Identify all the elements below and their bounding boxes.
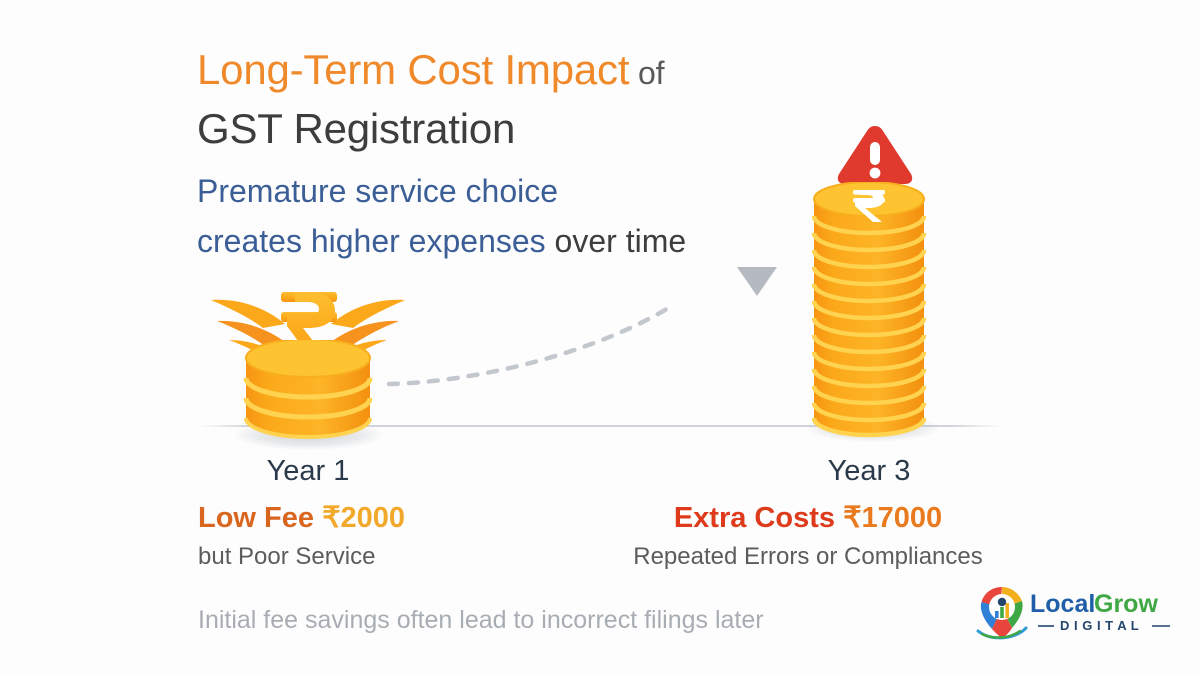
logo-name-grow: Grow — [1094, 590, 1158, 618]
year3-label: Year 3 — [752, 455, 986, 488]
year3-cost-title: Extra Costs — [674, 502, 835, 534]
year3-cost-headline: Extra Costs ₹17000 — [560, 498, 1056, 538]
year3-cost-caption: Repeated Errors or Compliances — [560, 538, 1056, 576]
footer-note: Initial fee savings often lead to incorr… — [198, 606, 764, 635]
logo-name-local: Local — [1030, 590, 1095, 618]
growth-trend-arrow — [385, 262, 785, 397]
page-title: Long-Term Cost Impact of GST Registratio… — [197, 42, 917, 156]
headline-line-1: Long-Term Cost Impact of — [197, 42, 917, 101]
localgrow-digital-logo[interactable]: Local Grow D I G I T A L — [976, 584, 1176, 642]
year1-coins-icon — [238, 340, 378, 450]
year3-cost-block: Extra Costs ₹17000 Repeated Errors or Co… — [560, 498, 1056, 576]
growth-arrow-dashed-path — [389, 304, 675, 384]
infographic-canvas: Long-Term Cost Impact of GST Registratio… — [0, 0, 1200, 675]
year3-coins-icon — [807, 182, 931, 442]
headline-accent-text: Long-Term Cost Impact — [197, 46, 629, 93]
growth-arrow-head-icon — [737, 267, 777, 296]
logo-wordmark: Local Grow D I G I T A L — [1030, 588, 1176, 636]
year1-coin-stack — [248, 348, 368, 438]
subtitle-trailing-text: over time — [546, 223, 686, 259]
headline-line-2: GST Registration — [197, 101, 917, 156]
year3-cost-amount: ₹17000 — [843, 502, 942, 534]
year1-cost-amount: ₹2000 — [322, 502, 405, 534]
logo-tagline: D I G I T A L — [1060, 618, 1139, 633]
year1-label: Year 1 — [188, 455, 428, 488]
headline-connector-text: of — [629, 55, 664, 91]
subtitle-emphasis-text: creates higher expenses — [197, 223, 546, 259]
year1-cost-title: Low Fee — [198, 502, 314, 534]
location-pin-chart-icon — [976, 584, 1028, 640]
year3-coin-stack — [818, 182, 920, 434]
warning-triangle-icon — [834, 122, 916, 188]
